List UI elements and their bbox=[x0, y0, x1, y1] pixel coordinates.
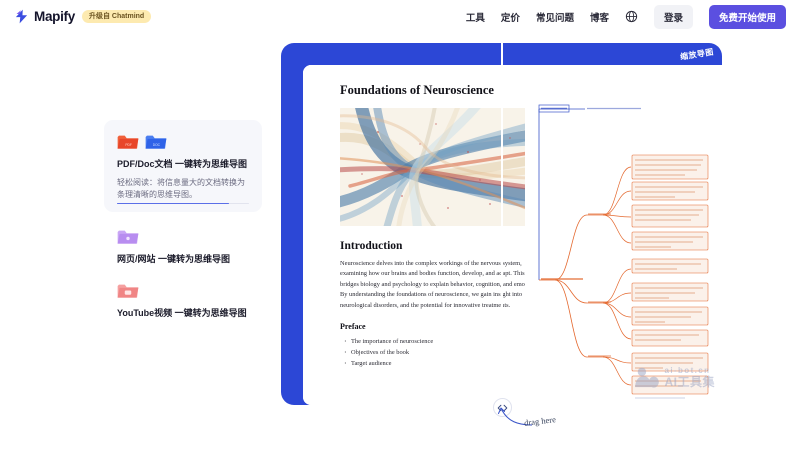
split-divider[interactable] bbox=[501, 43, 503, 405]
nav-faq[interactable]: 常见问题 bbox=[536, 10, 574, 24]
mindmap-canvas bbox=[525, 65, 722, 405]
nav-tools[interactable]: 工具 bbox=[466, 10, 485, 24]
watermark-name: AI工具集 bbox=[664, 376, 715, 388]
globe-icon[interactable] bbox=[625, 10, 638, 23]
start-free-button[interactable]: 免费开始使用 bbox=[709, 5, 786, 29]
web-folder-icon bbox=[117, 228, 139, 245]
login-button[interactable]: 登录 bbox=[654, 5, 693, 29]
feature-card-pdf-doc[interactable]: PDF DOC PDF/Doc文档 一键转为思维导图 轻松阅读：将信息量大的文档… bbox=[104, 120, 262, 212]
feature-progress-fill bbox=[117, 203, 229, 205]
top-navbar: Mapify 升级自 Chatmind 工具 定价 常见问题 博客 登录 免费开… bbox=[0, 0, 800, 33]
brand-name: Mapify bbox=[34, 9, 75, 24]
svg-text:PDF: PDF bbox=[125, 143, 131, 147]
list-item: Target audience bbox=[351, 358, 509, 369]
watermark-logo-icon bbox=[634, 366, 660, 388]
watermark: ai-bot.cn AI工具集 bbox=[634, 366, 715, 388]
mindmap-preview[interactable]: ai-bot.cn AI工具集 bbox=[525, 65, 722, 405]
watermark-text: ai-bot.cn AI工具集 bbox=[664, 367, 715, 388]
svg-text:DOC: DOC bbox=[153, 143, 161, 147]
document-heading: Introduction bbox=[340, 240, 509, 252]
feature-title-pdf-doc: PDF/Doc文档 一键转为思维导图 bbox=[117, 159, 249, 171]
feature-list: PDF DOC PDF/Doc文档 一键转为思维导图 轻松阅读：将信息量大的文档… bbox=[104, 120, 262, 320]
zoom-mindmap-label: 缩放导图 bbox=[679, 46, 714, 62]
nav-blog[interactable]: 博客 bbox=[590, 10, 609, 24]
list-item: The importance of neuroscience bbox=[351, 336, 509, 347]
watermark-domain: ai-bot.cn bbox=[664, 367, 715, 375]
document-title: Foundations of Neuroscience bbox=[340, 83, 509, 98]
feature-title-web: 网页/网站 一键转为思维导图 bbox=[117, 254, 249, 266]
document-preface-heading: Preface bbox=[340, 322, 509, 331]
document-preface-list: The importance of neuroscience Objective… bbox=[340, 336, 509, 369]
document-preview[interactable]: Foundations of Neuroscience bbox=[303, 65, 525, 405]
doc-folder-icon: DOC bbox=[145, 133, 167, 150]
feature-card-web[interactable]: 网页/网站 一键转为思维导图 bbox=[104, 228, 262, 266]
nav-pricing[interactable]: 定价 bbox=[501, 10, 520, 24]
feature-progress-track bbox=[117, 203, 249, 205]
neuron-figure bbox=[340, 108, 525, 226]
feature-card-youtube[interactable]: YouTube视频 一键转为思维导图 bbox=[104, 282, 262, 320]
app-window: Mapify 升级自 Chatmind 工具 定价 常见问题 博客 登录 免费开… bbox=[0, 0, 800, 450]
upgrade-badge: 升级自 Chatmind bbox=[82, 10, 151, 23]
lightning-bolt-icon bbox=[14, 9, 29, 24]
feature-icons: PDF DOC bbox=[117, 133, 249, 150]
document-body: Neuroscience delves into the complex wor… bbox=[340, 259, 525, 311]
feature-desc-pdf-doc: 轻松阅读：将信息量大的文档转换为条理清晰的思维导图。 bbox=[117, 177, 249, 202]
list-item: Objectives of the book bbox=[351, 347, 509, 358]
brand-logo[interactable]: Mapify bbox=[14, 9, 75, 24]
split-preview-pane: Foundations of Neuroscience bbox=[303, 65, 722, 405]
pdf-folder-icon: PDF bbox=[117, 133, 139, 150]
feature-title-youtube: YouTube视频 一键转为思维导图 bbox=[117, 308, 249, 320]
youtube-folder-icon bbox=[117, 282, 139, 299]
nav-links: 工具 定价 常见问题 博客 登录 免费开始使用 bbox=[466, 5, 786, 29]
